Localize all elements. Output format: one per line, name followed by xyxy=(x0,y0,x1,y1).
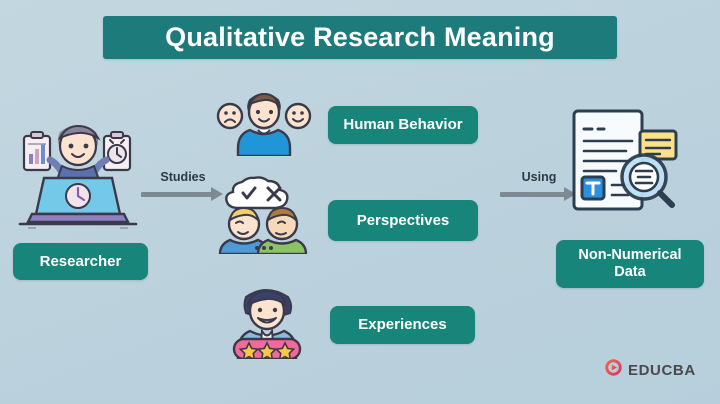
infographic-canvas: Qualitative Research Meaning xyxy=(0,0,720,404)
outcome-line-1: Non-Numerical xyxy=(578,247,681,263)
arrow-line xyxy=(141,192,213,197)
connector-studies: Studies xyxy=(141,170,225,206)
topic-perspectives[interactable]: Perspectives xyxy=(328,200,478,241)
educba-logo: EDUCBA xyxy=(604,358,696,382)
node-researcher[interactable]: Researcher xyxy=(13,243,148,280)
node-non-numerical-data[interactable]: Non-Numerical Data xyxy=(556,240,704,288)
researcher-with-laptop-icon xyxy=(14,108,142,238)
educba-swirl-icon xyxy=(604,358,623,382)
connector-studies-label: Studies xyxy=(141,170,225,184)
node-researcher-label: Researcher xyxy=(40,253,122,271)
page-title: Qualitative Research Meaning xyxy=(165,22,555,53)
outcome-line-2: Data xyxy=(614,264,645,280)
educba-logo-text: EDUCBA xyxy=(628,362,696,379)
node-non-numerical-data-label: Non-Numerical Data xyxy=(578,247,681,281)
arrow-line xyxy=(500,192,566,197)
topic-experiences-label: Experiences xyxy=(358,316,446,334)
person-with-emoji-faces-icon xyxy=(216,84,312,156)
topic-human-behavior[interactable]: Human Behavior xyxy=(328,106,478,144)
page-title-banner: Qualitative Research Meaning xyxy=(103,16,617,59)
two-people-thought-bubble-icon xyxy=(216,176,314,254)
topic-perspectives-label: Perspectives xyxy=(357,212,450,230)
topic-experiences[interactable]: Experiences xyxy=(330,306,475,344)
document-magnifier-icon xyxy=(568,105,680,215)
person-with-star-rating-icon xyxy=(224,281,310,359)
topic-human-behavior-label: Human Behavior xyxy=(343,116,462,134)
connector-using-label: Using xyxy=(500,170,578,184)
connector-using: Using xyxy=(500,170,578,206)
